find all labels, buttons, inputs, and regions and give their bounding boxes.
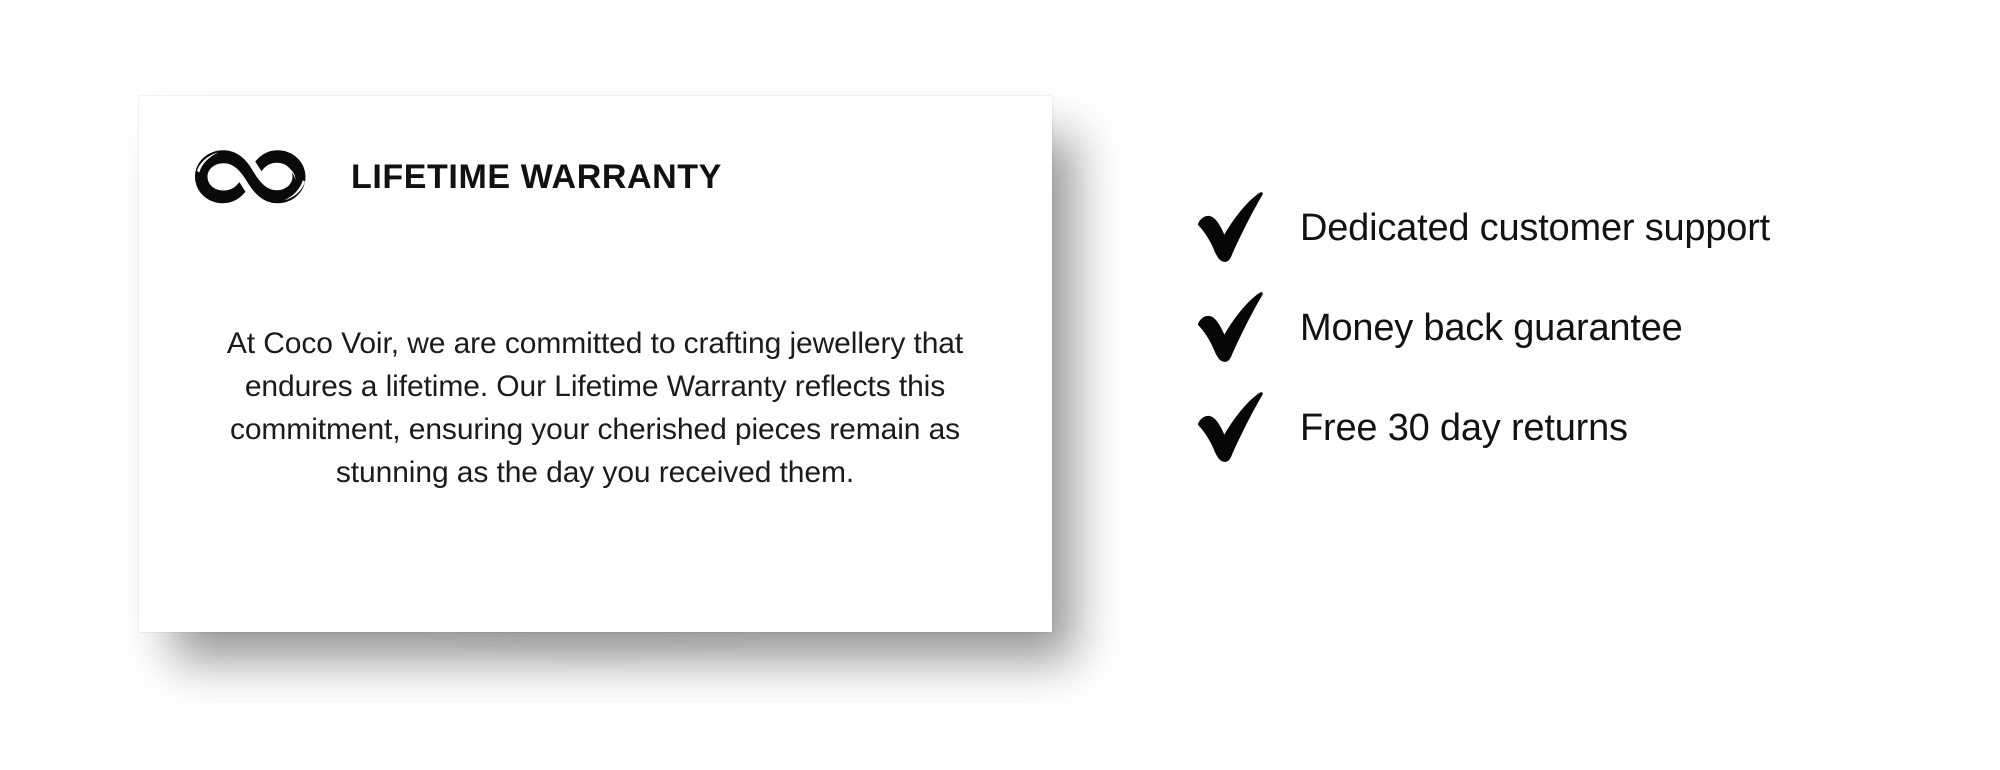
page-title: LIFETIME WARRANTY bbox=[351, 160, 722, 194]
card-body-text: At Coco Voir, we are committed to crafti… bbox=[181, 322, 1009, 494]
list-item: Money back guarantee bbox=[1192, 278, 1952, 378]
check-icon bbox=[1192, 389, 1270, 467]
list-item: Free 30 day returns bbox=[1192, 378, 1952, 478]
card-header: LIFETIME WARRANTY bbox=[191, 144, 722, 210]
check-icon bbox=[1192, 189, 1270, 267]
lifetime-warranty-card: LIFETIME WARRANTY At Coco Voir, we are c… bbox=[139, 96, 1052, 632]
benefits-list: Dedicated customer support Money back gu… bbox=[1192, 178, 1952, 478]
card-content: LIFETIME WARRANTY At Coco Voir, we are c… bbox=[139, 96, 1052, 632]
page-root: LIFETIME WARRANTY At Coco Voir, we are c… bbox=[0, 0, 2000, 770]
benefit-label: Free 30 day returns bbox=[1300, 409, 1628, 447]
infinity-icon bbox=[191, 144, 311, 210]
benefit-label: Money back guarantee bbox=[1300, 309, 1683, 347]
check-icon bbox=[1192, 289, 1270, 367]
benefit-label: Dedicated customer support bbox=[1300, 209, 1770, 247]
list-item: Dedicated customer support bbox=[1192, 178, 1952, 278]
